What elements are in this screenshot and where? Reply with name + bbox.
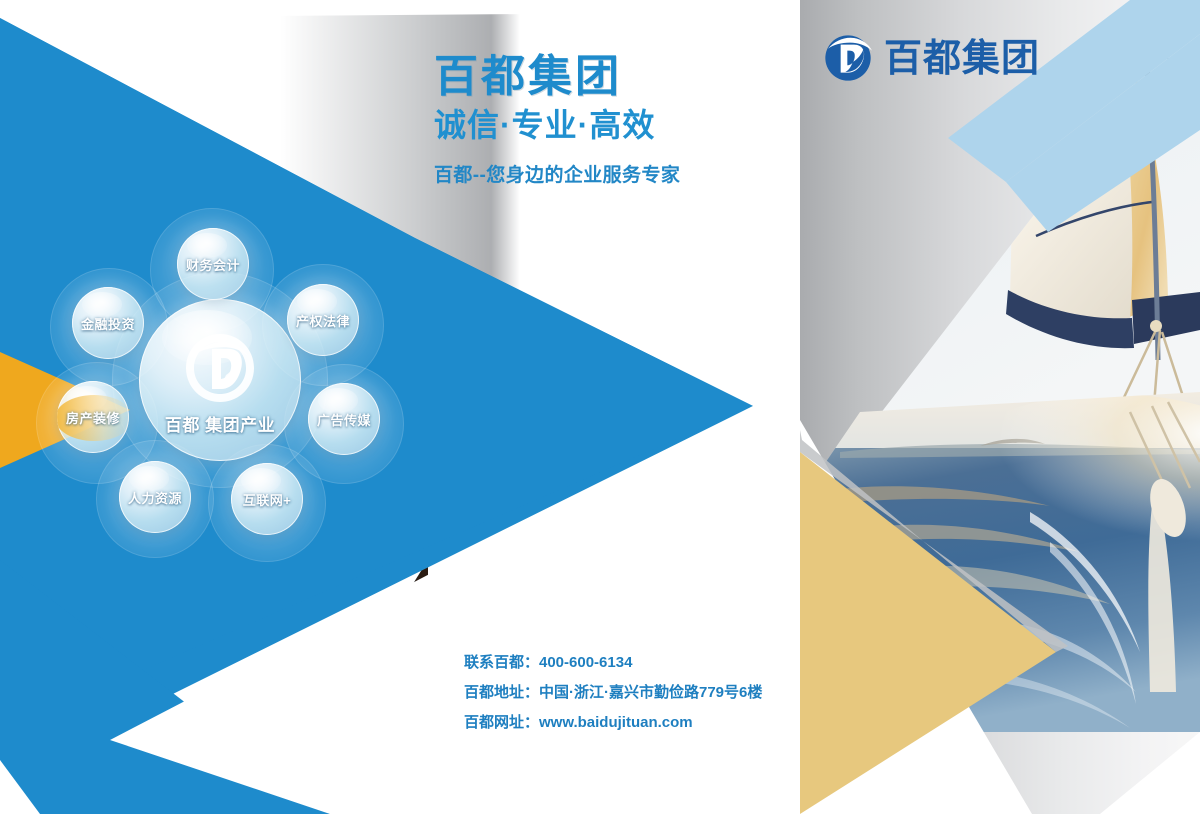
bubble-internet-plus[interactable]: 互联网+ [231, 463, 303, 535]
bubble-finance-accounting[interactable]: 财务会计 [177, 228, 249, 300]
bubble-label: 房产装修 [66, 408, 120, 427]
bubble-property-law[interactable]: 产权法律 [287, 284, 359, 356]
bubble-label: 互联网+ [243, 490, 292, 509]
contact-phone: 联系百都：400-600-6134 [464, 648, 762, 678]
bubble-real-estate-decoration[interactable]: 房产装修 [57, 381, 129, 453]
bubble-advertising-media[interactable]: 广告传媒 [308, 383, 380, 455]
page-tagline: 百都--您身边的企业服务专家 [434, 160, 680, 187]
bubble-finance-investment[interactable]: 金融投资 [72, 287, 144, 359]
bubble-label: 财务会计 [186, 255, 240, 274]
bubble-center-label: 百都 集团产业 [165, 411, 275, 436]
bubble-label: 人力资源 [128, 488, 182, 507]
right-panel: 百都集团 [800, 0, 1200, 814]
page-title: 百都集团 [434, 52, 680, 101]
baidu-d-circle-logo-icon [822, 32, 874, 84]
bubble-label: 产权法律 [296, 311, 350, 330]
logo-wordmark: 百都集团 [884, 39, 1040, 77]
contact-block: 联系百都：400-600-6134 百都地址：中国·浙江·嘉兴市勤俭路779号6… [464, 648, 762, 738]
baidu-d-logo-icon [181, 331, 259, 407]
contact-address: 百都地址：中国·浙江·嘉兴市勤俭路779号6楼 [464, 678, 762, 708]
page-subtitle: 诚信·专业·高效 [434, 107, 680, 144]
brand-logo-lockup[interactable]: 百都集团 [822, 32, 1040, 84]
gold-triangle-shape [800, 0, 1200, 814]
bubble-label: 金融投资 [81, 314, 135, 333]
industry-bubble-diagram: 百都 集团产业 财务会计 产权法律 广告传媒 互联网+ 人力资源 房产装修 [30, 222, 410, 538]
contact-website[interactable]: 百都网址：www.baidujituan.com [464, 708, 762, 738]
bubble-center-group-industries[interactable]: 百都 集团产业 [139, 299, 301, 461]
bubble-human-resources[interactable]: 人力资源 [119, 461, 191, 533]
bubble-label: 广告传媒 [317, 410, 371, 429]
left-panel: 百都 集团产业 财务会计 产权法律 广告传媒 互联网+ 人力资源 房产装修 [0, 0, 800, 814]
headline-block: 百都集团 诚信·专业·高效 百都--您身边的企业服务专家 [434, 52, 680, 187]
brochure-page: 百都 集团产业 财务会计 产权法律 广告传媒 互联网+ 人力资源 房产装修 [0, 0, 1200, 814]
